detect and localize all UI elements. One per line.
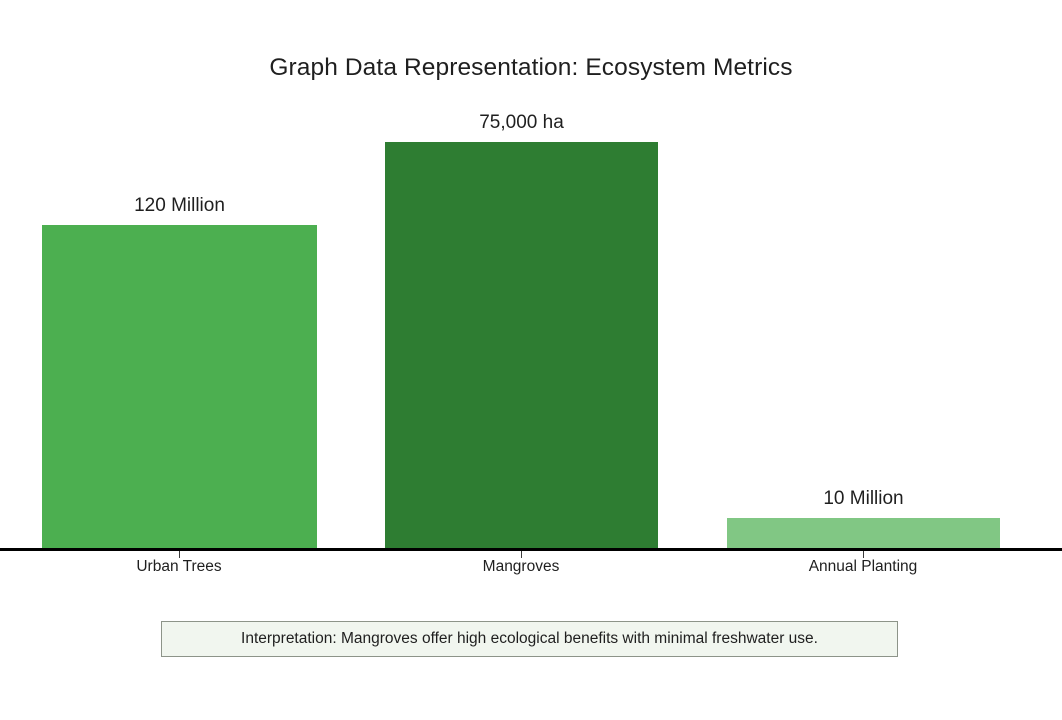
chart-figure: Graph Data Representation: Ecosystem Met… bbox=[0, 0, 1062, 720]
bar-group-annual-planting: 10 Million bbox=[727, 518, 1000, 549]
interpretation-text: Interpretation: Mangroves offer high eco… bbox=[241, 630, 818, 648]
axis-tick-mangroves bbox=[521, 551, 522, 558]
bar-value-urban-trees: 120 Million bbox=[134, 196, 225, 215]
bar-mangroves[interactable] bbox=[385, 142, 658, 549]
plot-area: 120 Million 75,000 ha 10 Million Urban T… bbox=[0, 0, 1062, 720]
bar-group-urban-trees: 120 Million bbox=[42, 225, 317, 549]
x-axis-line bbox=[0, 548, 1062, 551]
bar-urban-trees[interactable] bbox=[42, 225, 317, 549]
axis-label-annual-planting: Annual Planting bbox=[809, 558, 918, 576]
bar-annual-planting[interactable] bbox=[727, 518, 1000, 549]
bar-group-mangroves: 75,000 ha bbox=[385, 142, 658, 549]
axis-tick-annual-planting bbox=[863, 551, 864, 558]
bar-value-annual-planting: 10 Million bbox=[823, 489, 903, 508]
axis-tick-urban-trees bbox=[179, 551, 180, 558]
axis-label-mangroves: Mangroves bbox=[483, 558, 560, 576]
interpretation-box: Interpretation: Mangroves offer high eco… bbox=[161, 621, 898, 657]
axis-label-urban-trees: Urban Trees bbox=[136, 558, 221, 576]
bar-value-mangroves: 75,000 ha bbox=[479, 113, 564, 132]
